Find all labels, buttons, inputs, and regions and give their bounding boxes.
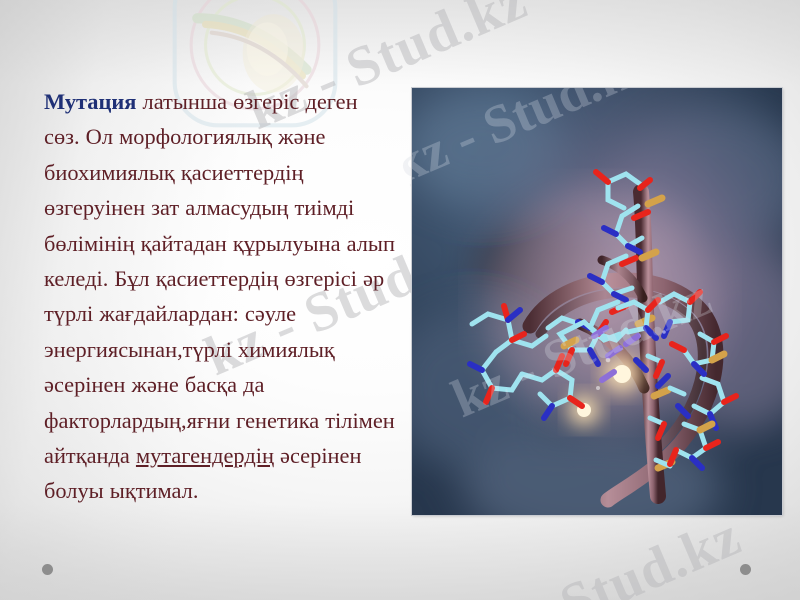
watermark-text: kz - Stud.kz bbox=[452, 504, 750, 600]
slide-body-text: Мутация латынша өзгеріс деген сөз. Ол мо… bbox=[44, 84, 396, 509]
watermark-text: Stud.kz bbox=[230, 0, 429, 13]
decorative-dot bbox=[740, 564, 751, 575]
presentation-slide: Stud.kz kz - Stud.kz kz - Stud.kz kz - S… bbox=[0, 0, 800, 600]
lead-term: Мутация bbox=[44, 89, 136, 114]
paragraph-part-1: латынша өзгеріс деген сөз. Ол морфология… bbox=[44, 89, 395, 468]
dna-molecule-illustration: kz - Stud.kz kz - Stud.kz bbox=[412, 88, 782, 515]
decorative-dot bbox=[42, 564, 53, 575]
underlined-term: мутагендердің bbox=[136, 443, 274, 468]
